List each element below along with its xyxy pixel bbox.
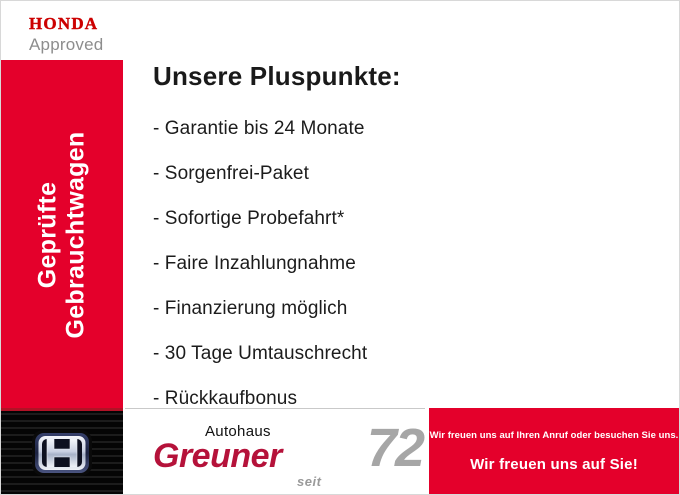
side-panel: Geprüfte Gebrauchtwagen (1, 60, 123, 409)
list-item: - Garantie bis 24 Monate (153, 118, 651, 140)
dealer-seit-label: seit (297, 474, 321, 489)
main-content: Unsere Pluspunkte: - Garantie bis 24 Mon… (151, 61, 651, 443)
list-item: - Finanzierung möglich (153, 298, 651, 320)
honda-wordmark: HONDA (29, 15, 179, 32)
honda-approved-logo: HONDA Approved (29, 15, 179, 59)
approved-label: Approved (29, 36, 179, 53)
list-item: - Faire Inzahlungnahme (153, 253, 651, 275)
cta-panel: Wir freuen uns auf Ihren Anruf oder besu… (429, 408, 679, 494)
side-panel-line-2: Gebrauchtwagen (62, 131, 90, 338)
page-title: Unsere Pluspunkte: (153, 61, 651, 92)
advertisement-page: HONDA Approved Geprüfte Gebrauchtwagen U… (0, 0, 680, 495)
side-panel-line-1: Geprüfte (35, 131, 63, 338)
dealer-logo-inner: 72 Autohaus Greuner seit (147, 419, 427, 485)
cta-subtext: Wir freuen uns auf Ihren Anruf oder besu… (429, 430, 679, 441)
list-item: - Sorgenfrei-Paket (153, 163, 651, 185)
dealer-logo: 72 Autohaus Greuner seit (125, 408, 425, 495)
list-item: - Sofortige Probefahrt* (153, 208, 651, 230)
footer: 72 Autohaus Greuner seit Wir freuen uns … (1, 408, 679, 494)
side-panel-text-wrap: Geprüfte Gebrauchtwagen (1, 60, 123, 409)
benefit-list: - Garantie bis 24 Monate - Sorgenfrei-Pa… (151, 118, 651, 410)
honda-h-emblem-icon (31, 428, 93, 478)
list-item: - 30 Tage Umtauschrecht (153, 343, 651, 365)
cta-headline: Wir freuen uns auf Sie! (429, 456, 679, 473)
dealer-year: 72 (367, 421, 423, 475)
side-panel-text: Geprüfte Gebrauchtwagen (35, 131, 90, 338)
dealer-name: Greuner (153, 439, 282, 473)
list-item: - Rückkaufbonus (153, 388, 651, 410)
honda-emblem-panel (1, 408, 123, 494)
